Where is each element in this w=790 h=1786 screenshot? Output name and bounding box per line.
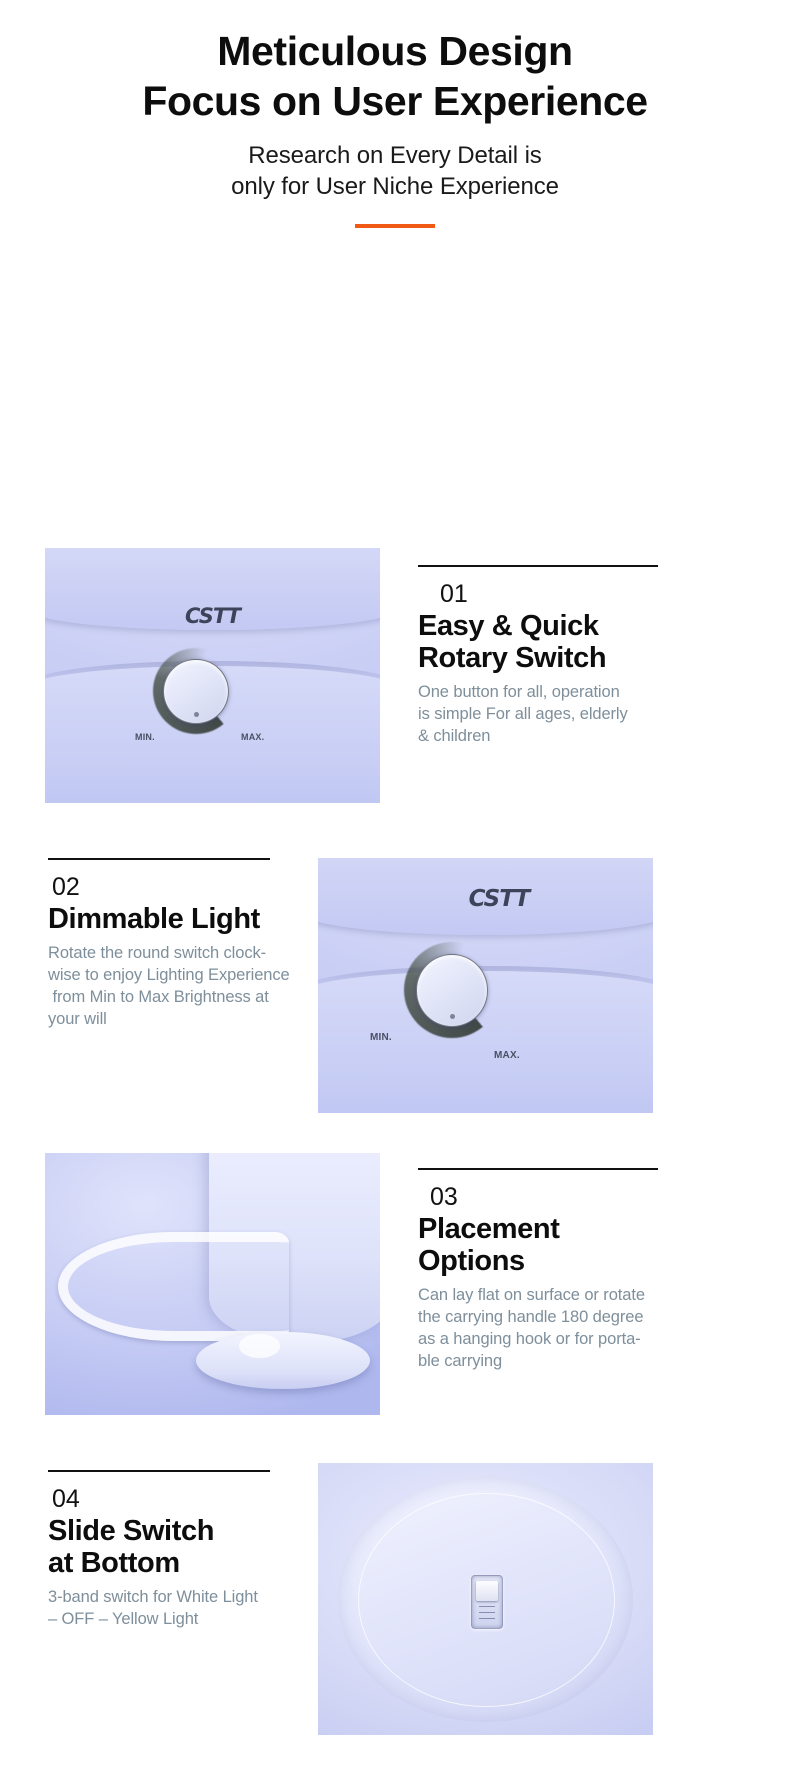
page-subtitle-line-1: Research on Every Detail is [0,140,790,171]
feature-body-02: Rotate the round switch clock- wise to e… [48,943,316,1031]
feature-title-04-line-2: at Bottom [48,1548,270,1580]
feature-number-01: 01 [418,581,658,609]
knob-max-label: MAX. [241,732,264,742]
product-photo-dimmable-knob: CSTT MIN. MAX. [318,858,653,1113]
brand-logo: CSTT [185,604,240,628]
feature-rule-01 [418,565,658,567]
page-title-line-1: Meticulous Design [0,26,790,76]
feature-body-01: One button for all, operation is simple … [418,682,658,748]
feature-title-04: Slide Switch at Bottom [48,1516,270,1580]
feature-text-02: 02 Dimmable Light Rotate the round switc… [48,858,270,1030]
page-header: Meticulous Design Focus on User Experien… [0,0,790,228]
product-photo-rotary-switch: CSTT MIN. MAX. [45,548,380,803]
feature-body-04: 3-band switch for White Light – OFF – Ye… [48,1587,298,1631]
feature-text-01: 01 Easy & Quick Rotary Switch One button… [418,565,658,747]
feature-title-01-line-2: Rotary Switch [418,643,658,675]
feature-image-03 [45,1153,380,1415]
feature-rule-02 [48,858,270,860]
page-title-line-2: Focus on User Experience [0,76,790,126]
feature-text-03: 03 Placement Options Can lay flat on sur… [418,1168,658,1372]
feature-title-02-line-1: Dimmable Light [48,904,270,936]
feature-title-01-line-1: Easy & Quick [418,611,658,643]
product-feature-page: Meticulous Design Focus on User Experien… [0,0,790,1786]
feature-number-02: 02 [48,874,270,902]
brand-logo: CSTT [469,886,530,912]
slide-switch [471,1575,503,1629]
feature-image-04 [318,1463,653,1735]
product-photo-carrying-handle [45,1153,380,1415]
feature-number-03: 03 [418,1184,658,1212]
feature-image-01: CSTT MIN. MAX. [45,548,380,803]
feature-title-03-line-1: Placement [418,1214,658,1246]
product-photo-bottom-slide-switch [318,1463,653,1735]
knob-max-label: MAX. [494,1050,520,1061]
knob-min-label: MIN. [370,1032,392,1043]
knob-min-label: MIN. [135,732,155,742]
feature-rule-04 [48,1470,270,1472]
page-subtitle: Research on Every Detail is only for Use… [0,140,790,202]
feature-title-02: Dimmable Light [48,904,270,936]
feature-number-04: 04 [48,1486,270,1514]
feature-rule-03 [418,1168,658,1170]
feature-image-02: CSTT MIN. MAX. [318,858,653,1113]
accent-divider [355,224,435,228]
feature-title-03-line-2: Options [418,1246,658,1278]
feature-text-04: 04 Slide Switch at Bottom 3-band switch … [48,1470,270,1630]
feature-title-04-line-1: Slide Switch [48,1516,270,1548]
feature-title-01: Easy & Quick Rotary Switch [418,611,658,675]
feature-title-03: Placement Options [418,1214,658,1278]
page-subtitle-line-2: only for User Niche Experience [0,171,790,202]
feature-body-03: Can lay flat on surface or rotate the ca… [418,1285,668,1373]
